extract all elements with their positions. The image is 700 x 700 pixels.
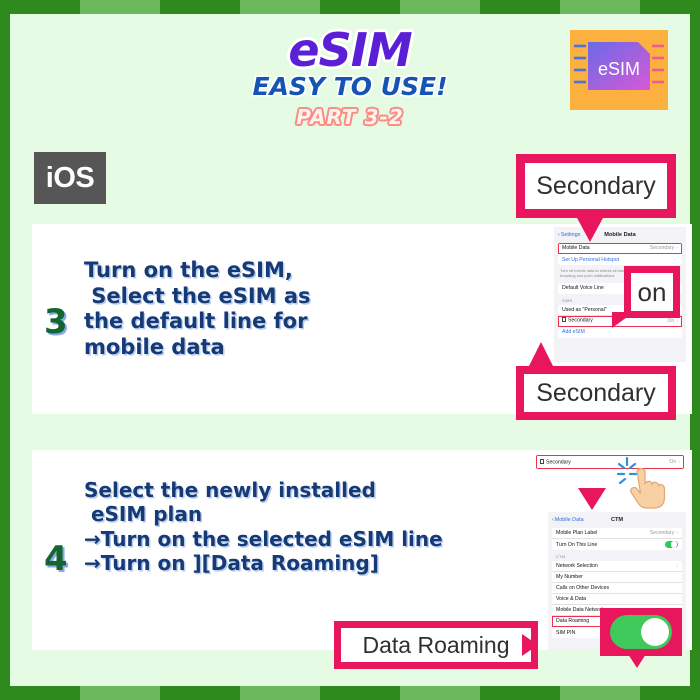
- row-voice-and-data[interactable]: Voice & Data: [552, 594, 682, 605]
- screen1-nav-bar: ‹ Settings Mobile Data: [554, 227, 686, 243]
- row-secondary-tap-label: Secondary: [546, 459, 571, 465]
- platform-badge-label: iOS: [46, 162, 94, 195]
- row-add-esim[interactable]: Add eSIM: [558, 327, 682, 338]
- row-calls-on-other-devices[interactable]: Calls on Other Devices: [552, 583, 682, 594]
- row-sim-pin-label: SIM PIN: [556, 630, 575, 636]
- callout-secondary-bottom-pointer: [528, 342, 554, 368]
- row-voice-and-data-label: Voice & Data: [556, 596, 586, 602]
- row-secondary-tap-value: On ›: [669, 459, 680, 465]
- step-4-text: Select the newly installed eSIM plan →Tu…: [84, 478, 443, 576]
- row-mobile-plan-label-text: Mobile Plan Label: [556, 530, 597, 536]
- row-secondary-tap-value-text: On: [669, 459, 676, 465]
- row-data-roaming-label: Data Roaming: [556, 618, 589, 624]
- toggle-turn-on-this-line[interactable]: [665, 541, 678, 549]
- row-network-selection-label: Network Selection: [556, 563, 598, 569]
- flow-down-arrow-icon: [578, 488, 606, 510]
- screen2b-group-1: Mobile Plan Label Secondary › Turn On Th…: [552, 528, 682, 550]
- row-my-number[interactable]: My Number: [552, 572, 682, 583]
- callout-toggle-zoom-inner: [609, 614, 673, 650]
- toggle-on-illustration-icon: [610, 615, 672, 649]
- row-mobile-data-value-text: Secondary: [650, 245, 674, 251]
- callout-data-roaming-text: Data Roaming: [341, 628, 531, 662]
- tap-hand-cursor-icon: [617, 455, 669, 509]
- chevron-right-icon: ›: [676, 563, 678, 569]
- row-mobile-plan-value: Secondary ›: [650, 530, 678, 536]
- step-3-text: Turn on the eSIM, Select the eSIM as the…: [84, 258, 311, 360]
- step-3-number: 3: [44, 302, 68, 342]
- row-used-as-personal-label: Used as "Personal": [562, 307, 607, 313]
- row-network-selection[interactable]: Network Selection ›: [552, 561, 682, 572]
- esim-chip-icon: eSIM: [570, 30, 668, 110]
- callout-secondary-bottom-text: Secondary: [524, 374, 668, 412]
- row-turn-on-this-line[interactable]: Turn On This Line: [552, 539, 682, 550]
- callout-secondary-bottom: Secondary: [516, 366, 676, 420]
- chevron-right-icon: ›: [676, 245, 678, 251]
- screen1-group-1: Mobile Data Secondary › Set Up Personal …: [558, 243, 682, 265]
- row-secondary-value: On ›: [667, 318, 678, 324]
- step-4-number: 4: [44, 539, 68, 579]
- callout-data-roaming: Data Roaming: [334, 621, 538, 669]
- platform-badge-ios: iOS: [34, 152, 106, 204]
- callout-secondary-top: Secondary: [516, 154, 676, 218]
- chevron-right-icon: ›: [676, 318, 678, 324]
- callout-on: on: [624, 266, 680, 318]
- row-secondary-label-wrap: Secondary: [562, 317, 593, 324]
- row-turn-on-this-line-label: Turn On This Line: [556, 542, 597, 548]
- screen2b-nav-bar: ‹ Mobile Data CTM: [548, 512, 686, 528]
- row-add-esim-label: Add eSIM: [562, 329, 585, 335]
- screen2b-section-header: CTM: [548, 550, 686, 561]
- row-my-number-label: My Number: [556, 574, 583, 580]
- row-mobile-data[interactable]: Mobile Data Secondary ›: [558, 243, 682, 254]
- row-mobile-data-value: Secondary ›: [650, 245, 678, 251]
- row-personal-hotspot-label: Set Up Personal Hotspot: [562, 257, 619, 263]
- screen1-title: Mobile Data: [554, 232, 686, 238]
- sim-card-icon: [540, 459, 544, 464]
- callout-toggle-zoom: [600, 608, 682, 656]
- callout-on-text: on: [631, 273, 673, 311]
- callout-toggle-zoom-pointer: [628, 654, 646, 668]
- callout-on-pointer: [612, 312, 634, 328]
- row-secondary-label: Secondary: [568, 318, 593, 324]
- row-mobile-plan-label[interactable]: Mobile Plan Label Secondary ›: [552, 528, 682, 539]
- chevron-right-icon: ›: [678, 459, 680, 465]
- row-secondary-tap-label-wrap: Secondary: [540, 459, 571, 466]
- sim-card-icon: [562, 317, 566, 322]
- row-mobile-data-label: Mobile Data: [562, 245, 590, 251]
- row-mobile-data-network-label: Mobile Data Network: [556, 607, 604, 613]
- row-mobile-plan-value-text: Secondary: [650, 530, 674, 536]
- row-default-voice-line-label: Default Voice Line: [562, 285, 604, 291]
- callout-secondary-top-text: Secondary: [525, 163, 667, 209]
- screen2b-title: CTM: [548, 517, 686, 523]
- chevron-right-icon: ›: [676, 530, 678, 536]
- row-personal-hotspot[interactable]: Set Up Personal Hotspot: [558, 254, 682, 265]
- row-secondary-value-text: On: [667, 318, 674, 324]
- esim-chip-text: eSIM: [598, 59, 640, 79]
- row-calls-on-other-devices-label: Calls on Other Devices: [556, 585, 609, 591]
- callout-data-roaming-pointer: [522, 634, 538, 656]
- callout-secondary-top-pointer: [576, 216, 604, 242]
